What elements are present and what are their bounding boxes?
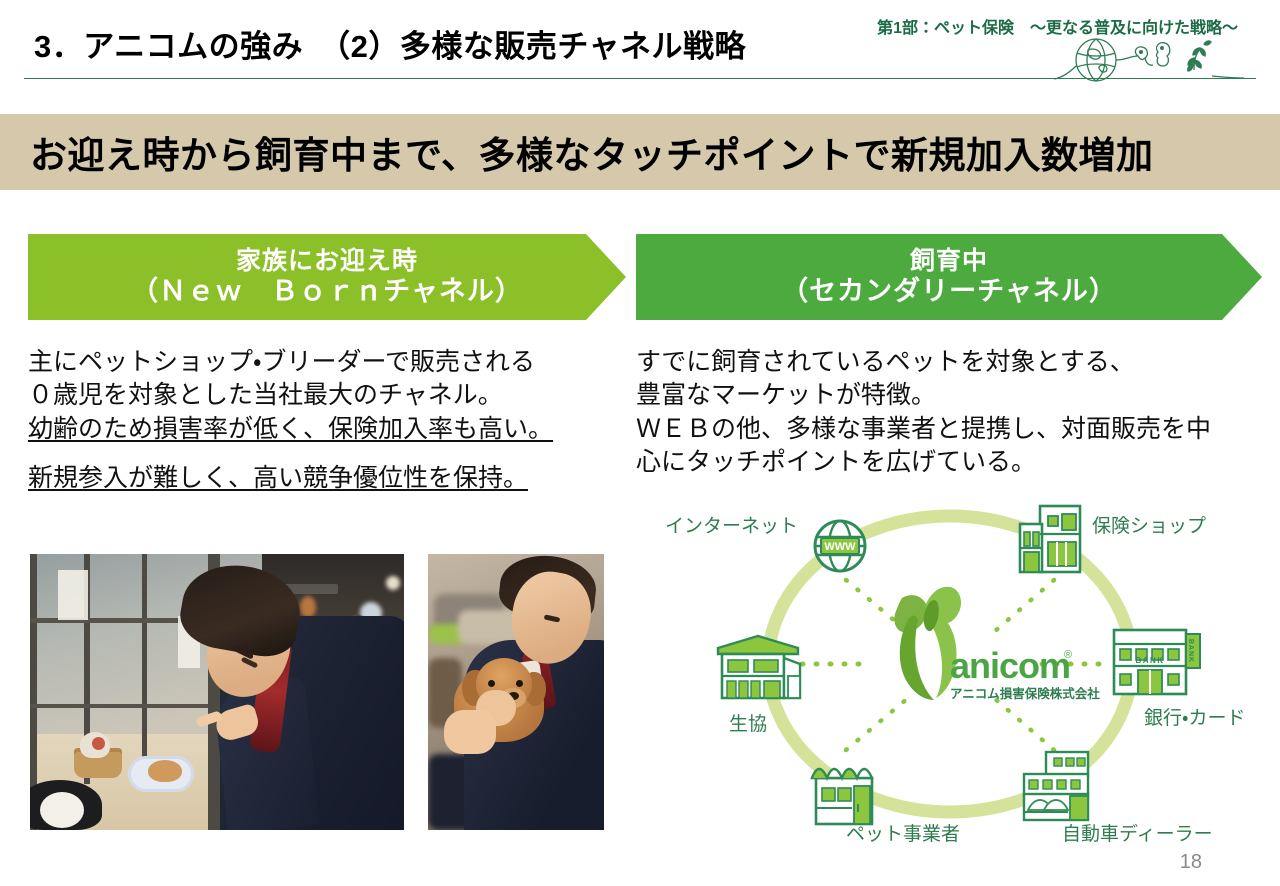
photo-holding-puppy bbox=[428, 554, 604, 830]
anicom-brand-text: anicom bbox=[950, 645, 1070, 686]
chevron-secondary-line2: （セカンダリーチャネル） bbox=[781, 276, 1117, 307]
node-label-coop: 生協 bbox=[729, 713, 767, 735]
body-line: 幼齢のため損害率が低く、保険加入率も高い。 bbox=[28, 413, 630, 446]
node-pet-business bbox=[812, 769, 872, 824]
slide-root: 3．アニコムの強み （2）多様な販売チャネル戦略 第1部：ペット保険 〜更なる普… bbox=[0, 0, 1280, 886]
photo-row bbox=[30, 554, 604, 830]
node-label-internet: インターネット bbox=[665, 515, 798, 537]
chevron-new-born-line1: 家族にお迎え時 bbox=[236, 247, 418, 276]
body-line: ０歳児を対象とした当社最大のチャネル。 bbox=[28, 379, 630, 412]
body-line: 新規参入が難しく、高い競争優位性を保持。 bbox=[28, 462, 630, 495]
bank-facade-text: BANK bbox=[1135, 656, 1164, 665]
channel-network-diagram: anicom ® アニコム損害保険株式会社 WWW インターネット bbox=[650, 492, 1270, 852]
photo-petshop-window bbox=[30, 554, 404, 830]
column-secondary-channel: 飼育中 （セカンダリーチャネル） すでに飼育されているペットを対象とする、 豊富… bbox=[636, 234, 1262, 479]
node-car-dealer bbox=[1024, 752, 1088, 820]
slide-header: 3．アニコムの強み （2）多様な販売チャネル戦略 第1部：ペット保険 〜更なる普… bbox=[0, 0, 1280, 88]
body-line: すでに飼育されているペットを対象とする、 bbox=[636, 346, 1262, 379]
coop-house-icon bbox=[718, 636, 798, 654]
page-title: 3．アニコムの強み （2）多様な販売チャネル戦略 bbox=[34, 21, 746, 66]
bank-sign-text: BANK bbox=[1187, 639, 1194, 663]
body-text-new-born: 主にペットショップ・ブリーダーで販売される ０歳児を対象とした当社最大のチャネル… bbox=[28, 346, 630, 495]
node-internet: WWW bbox=[815, 521, 865, 571]
spoke-insurance-shop bbox=[994, 580, 1054, 632]
anicom-brand-subtitle: アニコム損害保険株式会社 bbox=[950, 686, 1100, 701]
body-line: ＷＥＢの他、多様な事業者と提携し、対面販売を中 bbox=[636, 413, 1262, 446]
body-spacer bbox=[28, 446, 630, 462]
node-bank-card: BANK BANK bbox=[1114, 630, 1200, 694]
node-label-bank-card: 銀行・カード bbox=[1144, 707, 1245, 729]
node-insurance-shop bbox=[1020, 506, 1080, 572]
header-rule-divider bbox=[24, 78, 1256, 79]
column-new-born-channel: 家族にお迎え時 （Ｎｅｗ Ｂｏｒｎチャネル） 主にペットショップ・ブリーダーで販… bbox=[28, 234, 630, 495]
svg-text:WWW: WWW bbox=[824, 541, 856, 553]
spoke-car-dealer bbox=[994, 698, 1054, 750]
body-text-secondary: すでに飼育されているペットを対象とする、 豊富なマーケットが特徴。 ＷＥＢの他、… bbox=[636, 346, 1262, 479]
chevron-new-born-line2: （Ｎｅｗ Ｂｏｒｎチャネル） bbox=[131, 276, 523, 307]
headline-banner: お迎え時から飼育中まで、多様なタッチポイントで新規加入数増加 bbox=[0, 114, 1280, 190]
header-subtitle: 第1部：ペット保険 〜更なる普及に向けた戦略〜 bbox=[877, 14, 1238, 38]
node-label-pet-business: ペット事業者 bbox=[846, 823, 960, 845]
globe-and-plant-line-art-icon bbox=[1054, 36, 1244, 82]
chevron-banner-new-born: 家族にお迎え時 （Ｎｅｗ Ｂｏｒｎチャネル） bbox=[28, 234, 626, 320]
node-coop bbox=[718, 636, 800, 698]
page-number: 18 bbox=[1180, 851, 1202, 874]
node-label-car-dealer: 自動車ディーラー bbox=[1062, 823, 1213, 845]
node-label-insurance-shop: 保険ショップ bbox=[1092, 515, 1206, 537]
anicom-brand-tm: ® bbox=[1064, 649, 1072, 661]
body-line: 心にタッチポイントを広げている。 bbox=[636, 446, 1262, 479]
chevron-secondary-line1: 飼育中 bbox=[910, 247, 988, 276]
chevron-banner-secondary: 飼育中 （セカンダリーチャネル） bbox=[636, 234, 1262, 320]
spoke-pet-business bbox=[846, 698, 908, 750]
body-line: 主にペットショップ・ブリーダーで販売される bbox=[28, 346, 630, 379]
body-line: 豊富なマーケットが特徴。 bbox=[636, 379, 1262, 412]
headline-text: お迎え時から飼育中まで、多様なタッチポイントで新規加入数増加 bbox=[30, 125, 1154, 179]
